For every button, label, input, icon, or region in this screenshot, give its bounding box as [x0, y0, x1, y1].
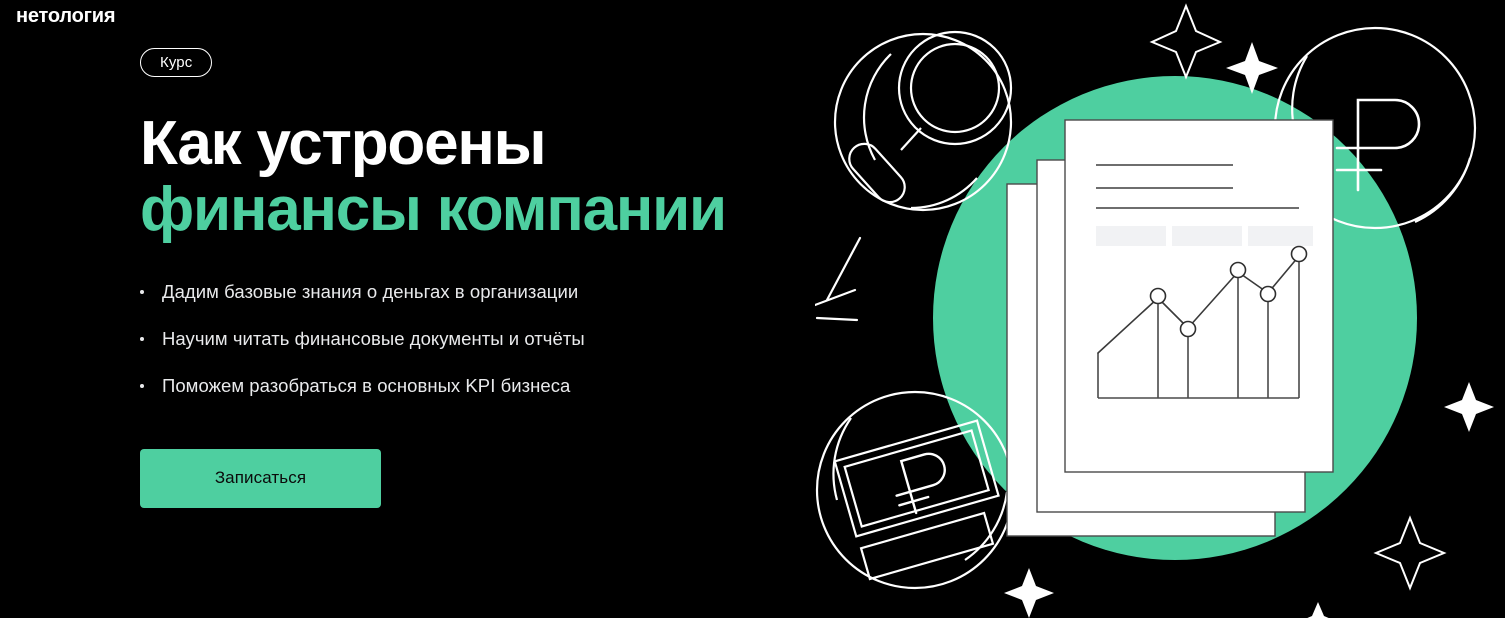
bullet-dot-icon — [140, 337, 144, 341]
document-sheet-front — [1065, 120, 1333, 472]
course-badge[interactable]: Курс — [140, 48, 212, 77]
magnifier-coin-icon — [835, 32, 1011, 210]
list-item-label: Поможем разобраться в основных KPI бизне… — [162, 375, 570, 396]
page-title: Как устроены финансы компании — [140, 111, 840, 244]
sparkle-icon — [1298, 602, 1338, 618]
hero-content: Курс Как устроены финансы компании Дадим… — [140, 48, 840, 508]
document-placeholder-boxes — [1096, 226, 1313, 246]
bullet-dot-icon — [140, 290, 144, 294]
headline-line-2: финансы компании — [140, 177, 840, 243]
headline-line-1: Как устроены — [140, 111, 840, 177]
document-stack — [1007, 120, 1333, 536]
finance-documents-illustration — [815, 0, 1505, 618]
enroll-button[interactable]: Записаться — [140, 449, 381, 508]
banknote-coin-icon — [817, 392, 1013, 588]
benefits-list: Дадим базовые знания о деньгах в организ… — [140, 280, 840, 399]
brand-logo[interactable]: нетология — [16, 4, 115, 28]
sparkle-icon — [1152, 6, 1220, 77]
hero-page: нетология Курс Как устроены финансы комп… — [0, 0, 1505, 618]
list-item-label: Дадим базовые знания о деньгах в организ… — [162, 281, 578, 302]
sparkle-icon — [1376, 518, 1444, 588]
bullet-dot-icon — [140, 384, 144, 388]
list-item: Научим читать финансовые документы и отч… — [140, 327, 840, 352]
list-item: Поможем разобраться в основных KPI бизне… — [140, 374, 840, 399]
list-item-label: Научим читать финансовые документы и отч… — [162, 328, 585, 349]
sparkle-icon — [1444, 382, 1494, 432]
sparkle-icon — [1004, 568, 1054, 618]
list-item: Дадим базовые знания о деньгах в организ… — [140, 280, 840, 305]
